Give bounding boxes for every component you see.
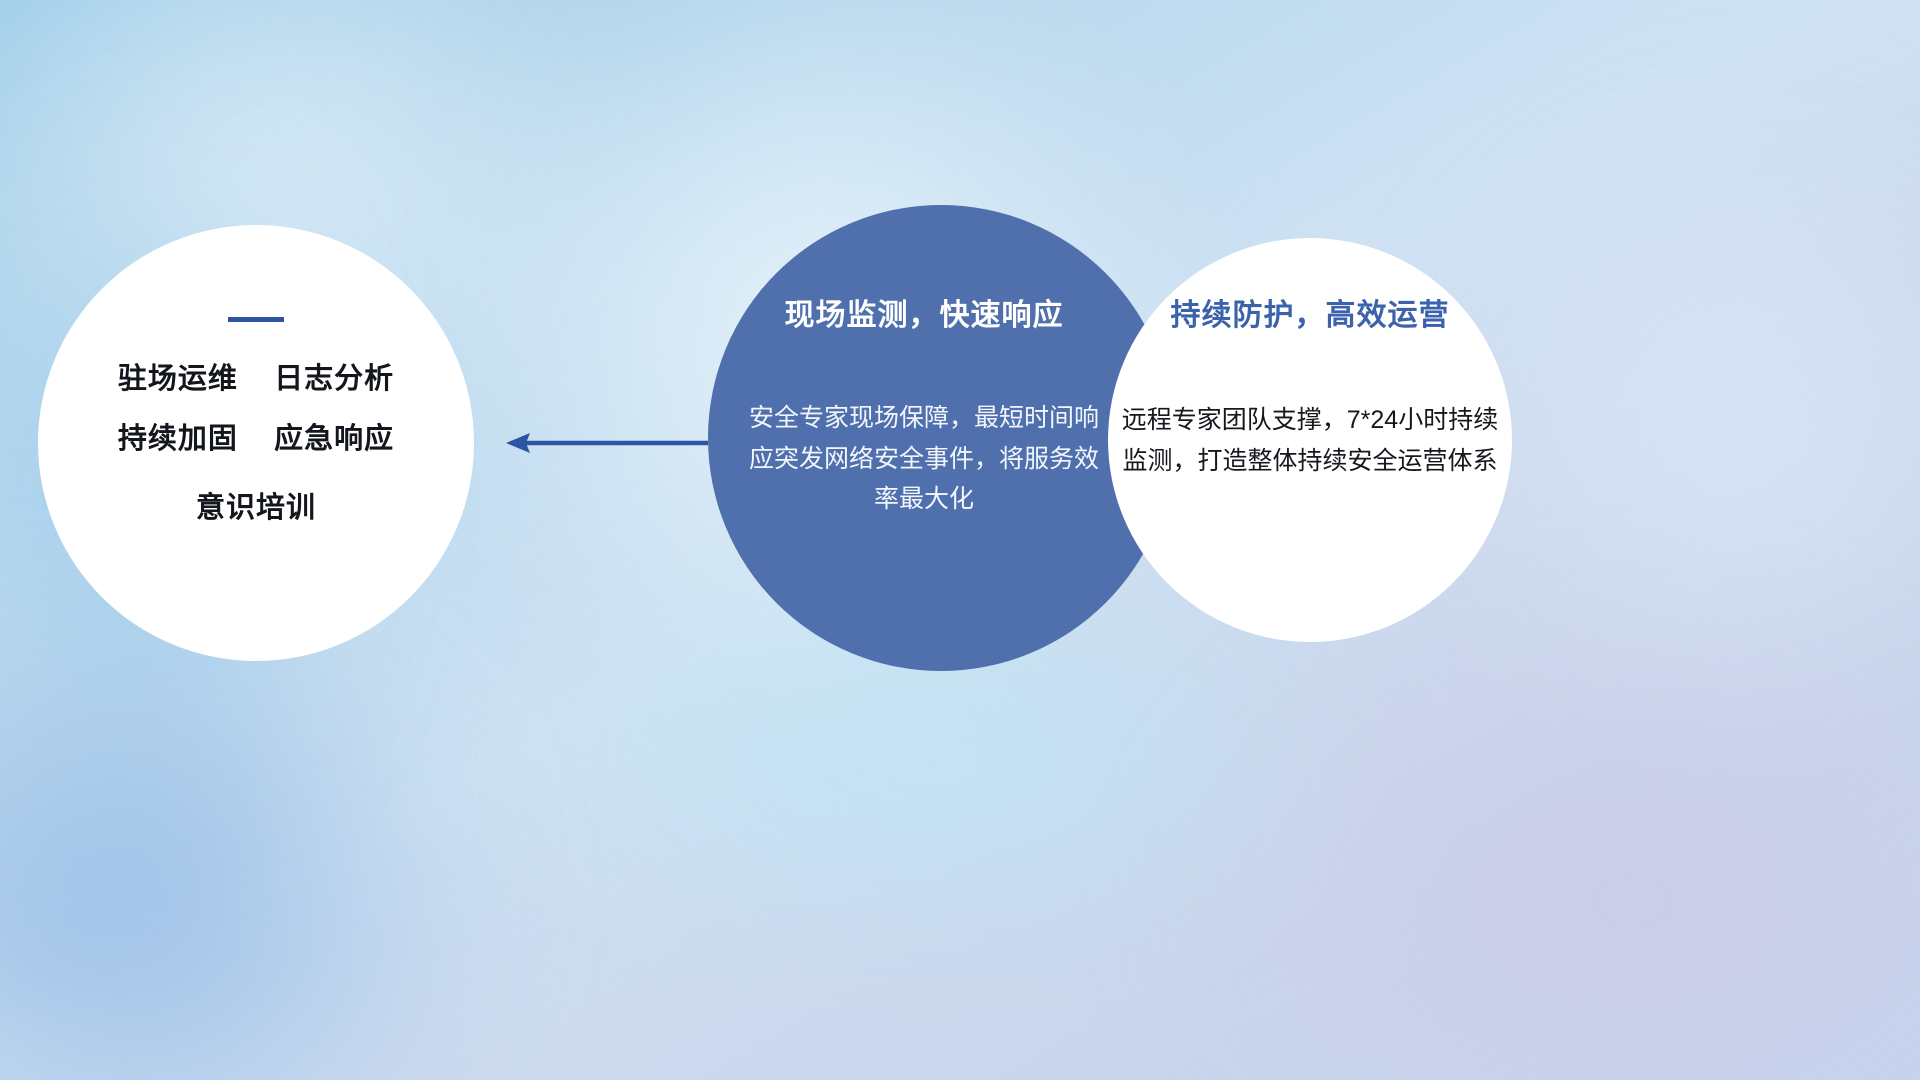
left-circle-line-1: 驻场运维 日志分析 — [118, 365, 394, 394]
left-circle-line-2: 持续加固 应急响应 — [118, 425, 394, 454]
right-circle-content: 持续防护，高效运营 远程专家团队支撑，7*24小时持续监测，打造整体持续安全运营… — [1108, 250, 1512, 481]
right-circle-title: 持续防护，高效运营 — [1108, 250, 1512, 334]
right-circle-body: 远程专家团队支撑，7*24小时持续监测，打造整体持续安全运营体系 — [1108, 400, 1512, 481]
middle-circle-title: 现场监测，快速响应 — [714, 250, 1134, 334]
middle-circle-content: 现场监测，快速响应 安全专家现场保障，最短时间响应突发网络安全事件，将服务效率最… — [714, 250, 1134, 520]
flow-arrow-left-icon — [500, 425, 710, 461]
left-circle-divider — [228, 317, 284, 322]
left-circle-line-3: 意识培训 — [196, 494, 316, 523]
diagram-stage: 驻场运维 日志分析 持续加固 应急响应 意识培训 现场监测，快速响应 安全专家现… — [0, 0, 1920, 1080]
middle-circle-body: 安全专家现场保障，最短时间响应突发网络安全事件，将服务效率最大化 — [714, 398, 1134, 520]
left-circle-content: 驻场运维 日志分析 持续加固 应急响应 意识培训 — [38, 225, 474, 661]
